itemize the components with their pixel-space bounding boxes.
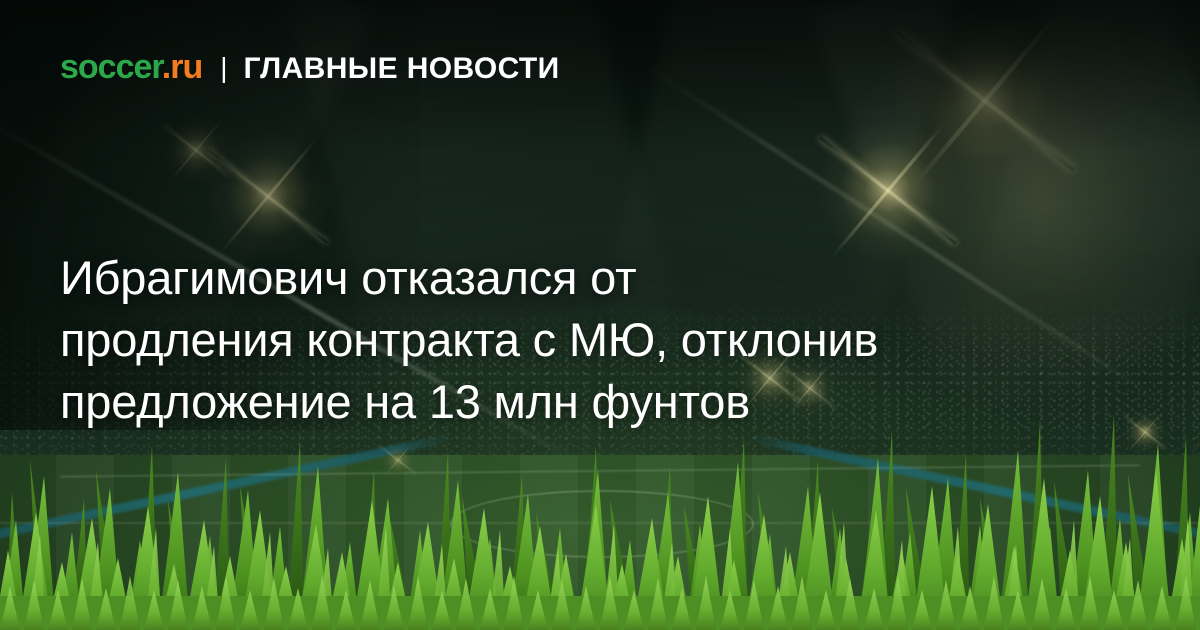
site-logo[interactable]: soccer.ru [60,50,202,84]
center-line [0,522,1200,524]
headline-line: продления контракта с МЮ, отклонив [60,309,1155,371]
section-title: ГЛАВНЫЕ НОВОСТИ [244,54,560,84]
header-separator: | [220,52,227,84]
logo-name-part: soccer [60,48,162,86]
headline-line: Ибрагимович отказался от [60,247,1155,309]
news-banner: soccer.ru | ГЛАВНЫЕ НОВОСТИ Ибрагимович … [0,0,1200,630]
logo-domain-part: .ru [162,48,202,86]
center-circle [450,490,754,558]
headline-line: предложение на 13 млн фунтов [60,371,1155,433]
banner-header: soccer.ru | ГЛАВНЫЕ НОВОСТИ [60,50,560,85]
page-title: Ибрагимович отказался от продления контр… [60,247,1155,433]
